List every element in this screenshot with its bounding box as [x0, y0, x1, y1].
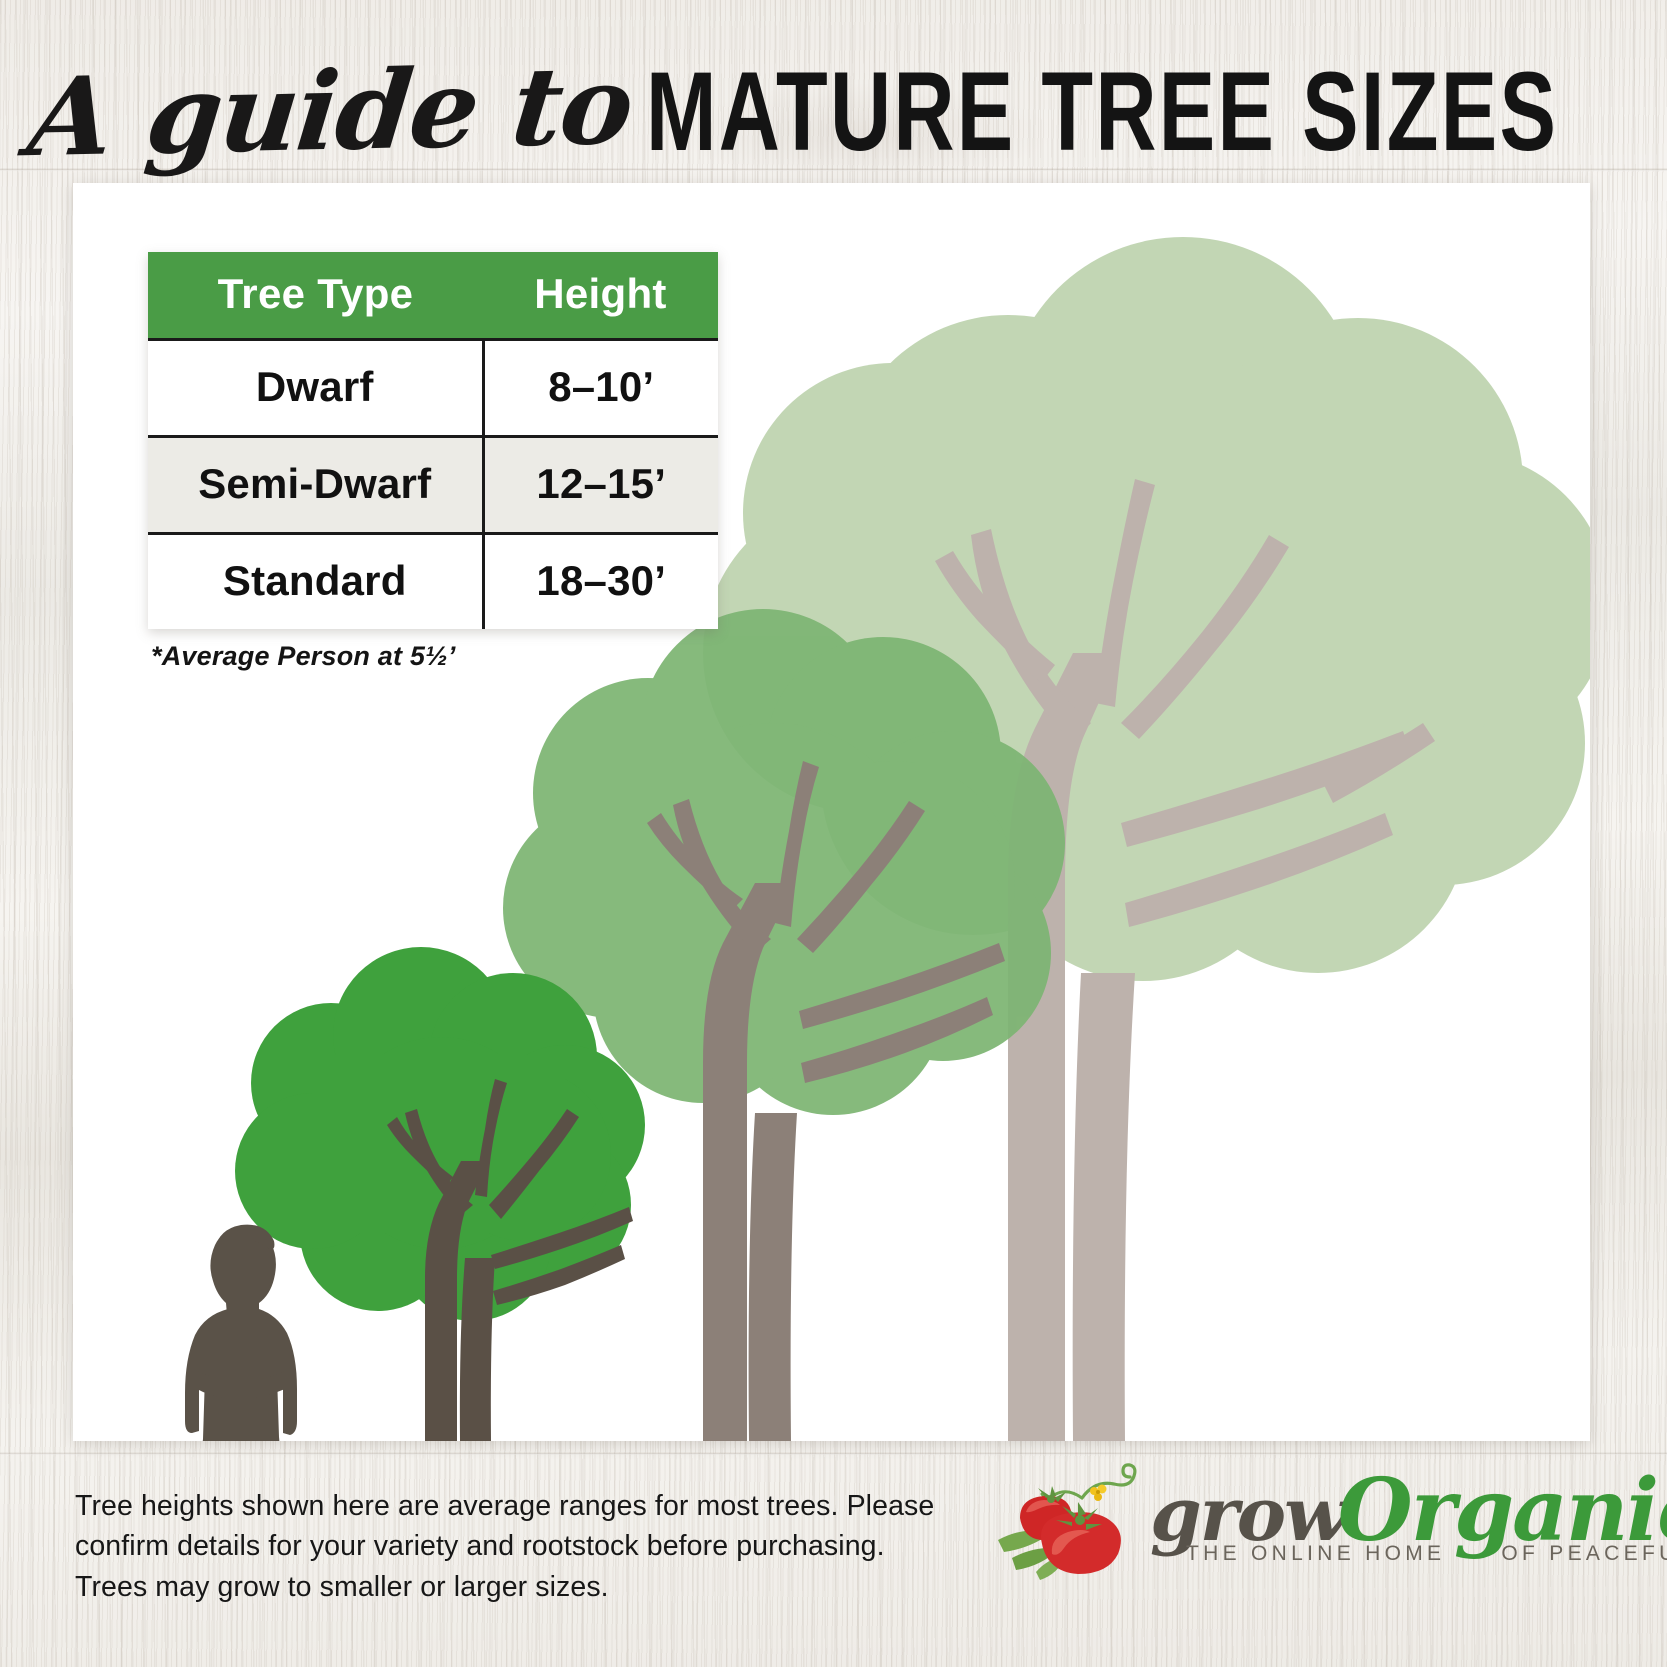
column-header-height: Height [483, 252, 718, 340]
cell-height-standard: 18–30’ [483, 534, 718, 630]
tree-dwarf [235, 947, 645, 1441]
tomato-icon [990, 1462, 1165, 1582]
column-header-tree-type: Tree Type [148, 252, 483, 340]
tree-size-table: Tree Type Height Dwarf 8–10’ Semi-Dwarf … [148, 252, 718, 629]
logo-tagline-right: OF PEACEFUL VALLEY [1501, 1542, 1667, 1565]
cell-tree-type-dwarf: Dwarf [148, 340, 483, 437]
cell-height-semi-dwarf: 12–15’ [483, 437, 718, 534]
footer-disclaimer: Tree heights shown here are average rang… [75, 1486, 955, 1607]
cell-tree-type-standard: Standard [148, 534, 483, 630]
person-silhouette [185, 1225, 297, 1441]
page-title-script: A guide to [23, 52, 636, 173]
brand-logo[interactable]: growOrganic.com THE ONLINE HOMEOF PEACEF… [990, 1442, 1580, 1587]
cell-height-dwarf: 8–10’ [483, 340, 718, 437]
logo-tagline-left: THE ONLINE HOME [1186, 1542, 1445, 1565]
table-footnote: *Average Person at 5½’ [151, 641, 456, 672]
logo-tagline: THE ONLINE HOMEOF PEACEFUL VALLEY [1186, 1542, 1667, 1566]
table-header-row: Tree Type Height [148, 252, 718, 340]
table-row: Standard 18–30’ [148, 534, 718, 630]
infographic-card: Tree Type Height Dwarf 8–10’ Semi-Dwarf … [73, 183, 1590, 1441]
page-title: A guide toMATURE TREE SIZES [0, 58, 1667, 166]
table-row: Dwarf 8–10’ [148, 340, 718, 437]
table-row: Semi-Dwarf 12–15’ [148, 437, 718, 534]
page-title-caps: MATURE TREE SIZES [646, 56, 1558, 168]
cell-tree-type-semi-dwarf: Semi-Dwarf [148, 437, 483, 534]
